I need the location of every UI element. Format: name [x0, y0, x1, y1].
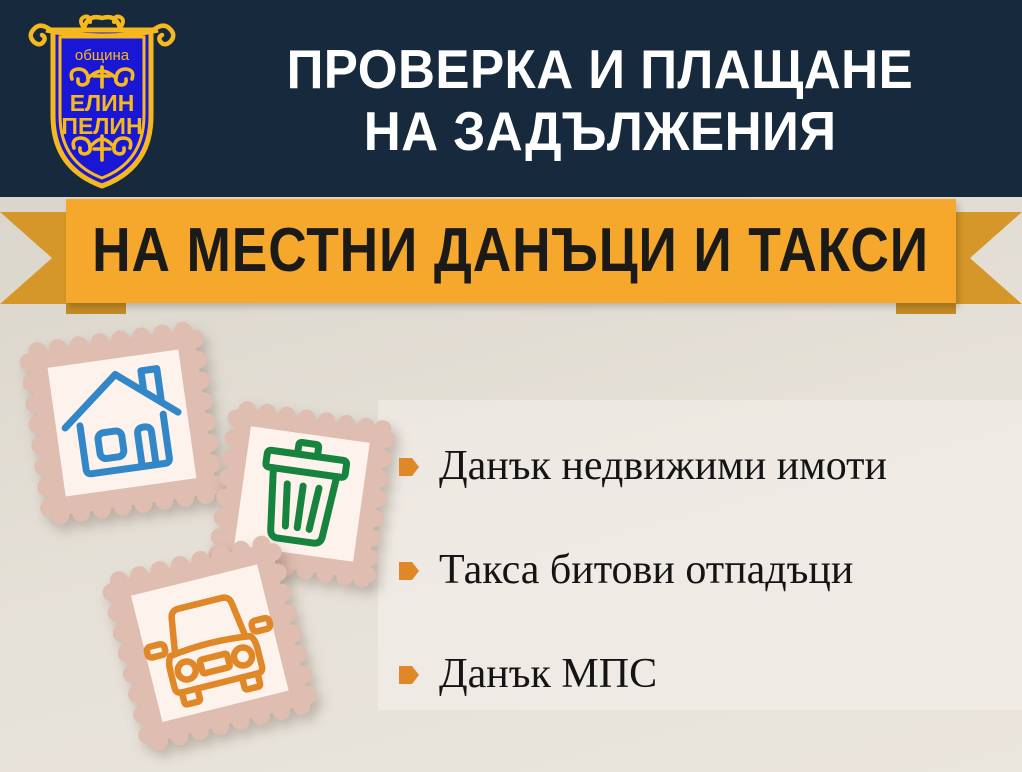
logo-text-pelin: ПЕЛИН — [61, 113, 142, 139]
page-title: ПРОВЕРКА И ПЛАЩАНЕ НА ЗАДЪЛЖЕНИЯ — [186, 16, 1014, 184]
header-bar: община ЕЛИН ПЕЛИН ПРОВЕРКА И ПЛАЩАНЕ НА … — [0, 0, 1022, 197]
municipality-logo: община ЕЛИН ПЕЛИН — [22, 8, 182, 190]
arrow-bullet-icon — [398, 559, 420, 583]
ribbon-label: НА МЕСТНИ ДАНЪЦИ И ТАКСИ — [93, 220, 930, 282]
list-item-label: Данък МПС — [439, 651, 657, 697]
arrow-bullet-icon — [398, 663, 420, 687]
ribbon-fold-left — [66, 302, 126, 314]
list-item[interactable]: Данък МПС — [398, 622, 1018, 726]
title-line-2: НА ЗАДЪЛЖЕНИЯ — [364, 100, 837, 162]
coat-of-arms-icon: община ЕЛИН ПЕЛИН — [22, 8, 182, 190]
list-item[interactable]: Данък недвижими имоти — [398, 414, 1018, 518]
poster-canvas: община ЕЛИН ПЕЛИН ПРОВЕРКА И ПЛАЩАНЕ НА … — [0, 0, 1022, 772]
ribbon-fold-right — [896, 302, 956, 314]
subtitle-ribbon: НА МЕСТНИ ДАНЪЦИ И ТАКСИ — [0, 197, 1022, 309]
property-tax-stamp — [12, 312, 232, 539]
vehicle-tax-stamp — [86, 528, 336, 772]
list-item[interactable]: Такса битови отпадъци — [398, 518, 1018, 622]
vehicle-tax-stamp-graphic — [86, 528, 336, 768]
list-item-label: Такса битови отпадъци — [439, 547, 853, 593]
tax-type-list: Данък недвижими имоти Такса битови отпад… — [398, 414, 1018, 726]
ribbon-banner: НА МЕСТНИ ДАНЪЦИ И ТАКСИ — [66, 199, 956, 303]
property-tax-stamp-graphic — [12, 312, 232, 534]
list-item-label: Данък недвижими имоти — [439, 443, 887, 489]
logo-text-obshtina: община — [75, 47, 130, 64]
title-line-1: ПРОВЕРКА И ПЛАЩАНЕ — [287, 38, 914, 100]
arrow-bullet-icon — [398, 455, 420, 479]
